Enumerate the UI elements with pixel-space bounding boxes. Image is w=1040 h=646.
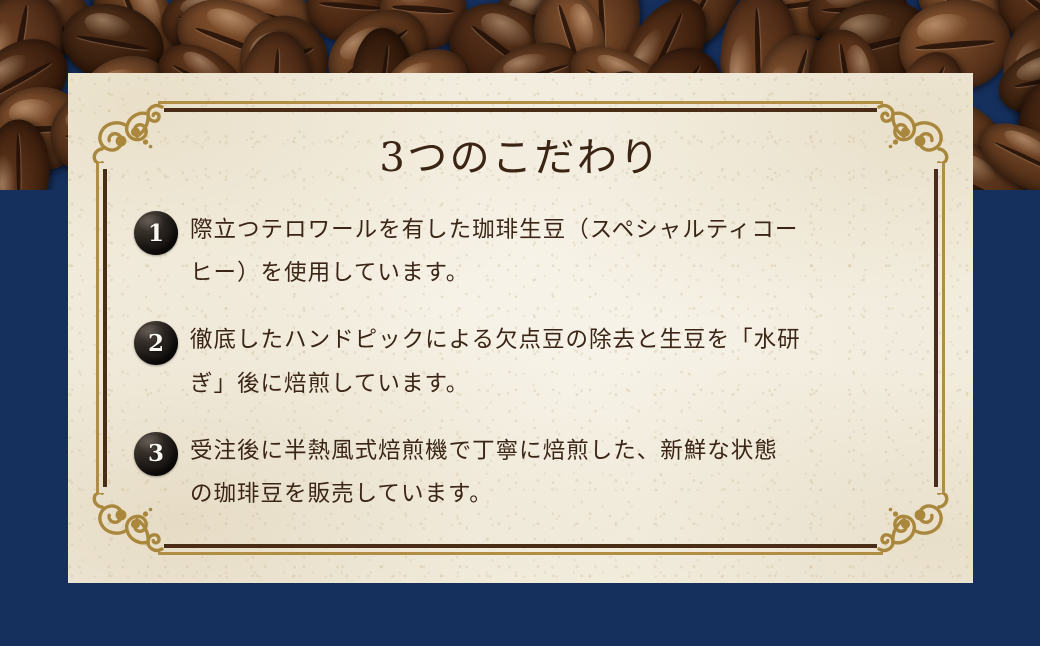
badge-number: 3 [148,442,164,465]
bean-highlight [0,153,16,190]
item-number-badge: 2 [134,321,178,365]
bean-highlight [396,0,438,7]
bean-highlight [83,8,136,44]
border-top-brown-line [164,108,877,112]
bean-highlight [0,49,34,92]
bean-highlight [1001,125,1040,167]
badge-number: 2 [148,332,164,355]
item-number-badge: 3 [134,432,178,476]
border-right-brown-line [934,169,938,487]
item-text-line: ぎ」後に焙煎しています。 [190,363,801,406]
item-text: 際立つテロワールを有した珈琲生豆（スペシャルティコー ヒー）を使用しています。 [190,209,798,295]
feature-list: 1 際立つテロワールを有した珈琲生豆（スペシャルティコー ヒー）を使用しています… [134,209,933,516]
badge-number: 1 [148,222,164,245]
item-text-line: ヒー）を使用しています。 [190,252,798,295]
item-text-line: 徹底したハンドピックによる欠点豆の除去と生豆を「水研 [190,319,801,362]
item-text-line: の珈琲豆を販売しています。 [190,473,778,516]
item-text-line: 受注後に半熱風式焙煎機で丁寧に焙煎した、新鮮な状態 [190,430,778,473]
bean-highlight [565,2,597,50]
border-right-gold-line [942,163,945,493]
item-text: 受注後に半熱風式焙煎機で丁寧に焙煎した、新鮮な状態 の珈琲豆を販売しています。 [190,430,778,516]
feature-card: 3つのこだわり 1 際立つテロワールを有した珈琲生豆（スペシャルティコー ヒー）… [68,73,973,583]
page-title: 3つのこだわり [68,125,973,183]
item-text: 徹底したハンドピックによる欠点豆の除去と生豆を「水研 ぎ」後に焙煎しています。 [190,319,801,405]
item-number-badge: 1 [134,211,178,255]
bean-highlight [915,10,972,46]
border-left-gold-line [96,163,99,493]
bean-highlight [322,0,365,3]
border-left-brown-line [103,169,107,487]
border-bottom-gold-line [158,552,883,555]
border-bottom-brown-line [164,544,877,548]
item-text-line: 際立つテロワールを有した珈琲生豆（スペシャルティコー [190,209,798,252]
list-item: 1 際立つテロワールを有した珈琲生豆（スペシャルティコー ヒー）を使用しています… [134,209,933,295]
list-item: 3 受注後に半熱風式焙煎機で丁寧に焙煎した、新鮮な状態 の珈琲豆を販売しています… [134,430,933,516]
list-item: 2 徹底したハンドピックによる欠点豆の除去と生豆を「水研 ぎ」後に焙煎しています… [134,319,933,405]
border-top-gold-line [158,101,883,104]
